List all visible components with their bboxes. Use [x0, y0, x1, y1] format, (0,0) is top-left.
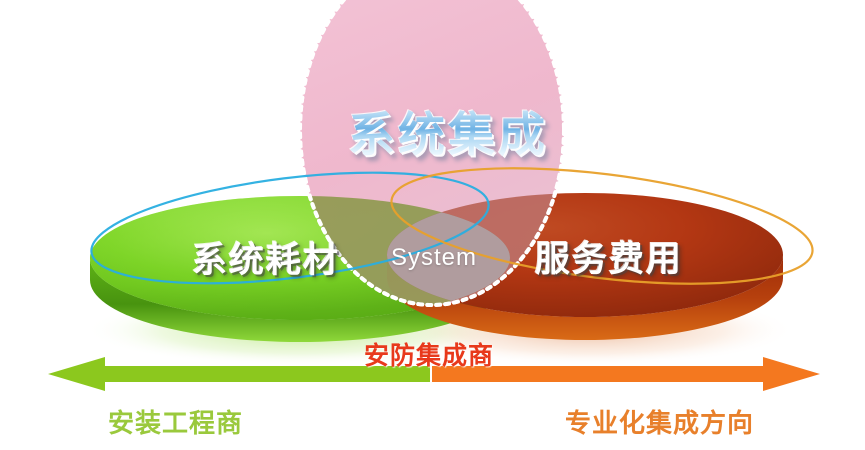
title-system-integration: 系统集成: [348, 96, 548, 165]
label-service-fee: 服务费用: [535, 231, 683, 282]
diagram-canvas: 系统集成 系统耗材 服务费用 System 安防集成商 安装工程商 专业化集成方…: [0, 0, 865, 450]
label-system-consumables: 系统耗材: [192, 232, 340, 283]
venn-diagram-graphic: [0, 0, 865, 450]
label-installation-contractor: 安装工程商: [108, 403, 243, 440]
label-system-intersection: System: [391, 244, 477, 272]
label-specialized-integration-direction: 专业化集成方向: [565, 403, 754, 440]
label-security-integrator: 安防集成商: [364, 336, 494, 372]
